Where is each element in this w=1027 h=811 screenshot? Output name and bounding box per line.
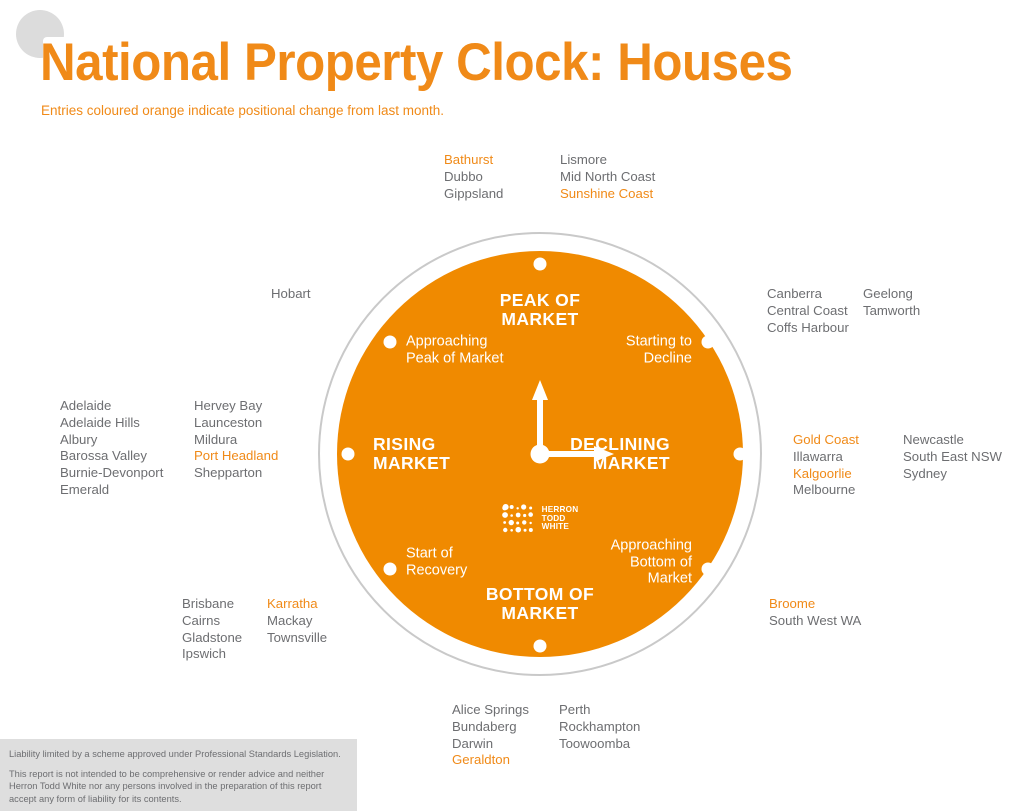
label-column: Gold CoastIllawarraKalgoorlieMelbourne — [793, 432, 903, 499]
city-label: Adelaide Hills — [60, 415, 194, 432]
page-title: National Property Clock: Houses — [40, 32, 793, 93]
city-label: Townsville — [267, 630, 327, 647]
label-column: Hervey BayLauncestonMilduraPort Headland… — [194, 398, 278, 499]
logo-dot-matrix-icon — [502, 504, 538, 534]
label-column: GeelongTamworth — [863, 286, 920, 336]
city-label: Cairns — [182, 613, 267, 630]
city-label: Rockhampton — [559, 719, 640, 736]
city-label: Dubbo — [444, 169, 560, 186]
city-label: Sydney — [903, 466, 1002, 483]
city-label: Mildura — [194, 432, 278, 449]
city-label: Hervey Bay — [194, 398, 278, 415]
disclaimer-line-2: This report is not intended to be compre… — [9, 768, 347, 806]
city-label: Albury — [60, 432, 194, 449]
city-label: Burnie-Devonport — [60, 465, 194, 482]
city-label: Bundaberg — [452, 719, 559, 736]
label-column: CanberraCentral CoastCoffs Harbour — [767, 286, 863, 336]
city-label: Lismore — [560, 152, 655, 169]
label-column: PerthRockhamptonToowoomba — [559, 702, 640, 769]
city-label: Gladstone — [182, 630, 267, 647]
city-label: Port Headland — [194, 448, 278, 465]
label-column: BathurstDubboGippsland — [444, 152, 560, 202]
page-subtitle: Entries coloured orange indicate positio… — [41, 103, 444, 118]
logo-line-3: WHITE — [542, 523, 579, 532]
city-label: Gold Coast — [793, 432, 903, 449]
city-label: Central Coast — [767, 303, 863, 320]
city-label: Gippsland — [444, 186, 560, 203]
city-label: Coffs Harbour — [767, 320, 863, 337]
label-column: AdelaideAdelaide HillsAlburyBarossa Vall… — [60, 398, 194, 499]
label-group-bottom-of-market: Alice SpringsBundabergDarwinGeraldton Pe… — [452, 702, 640, 769]
city-label: Hobart — [271, 286, 311, 303]
city-label: Mid North Coast — [560, 169, 655, 186]
city-label: Melbourne — [793, 482, 903, 499]
city-label: Karratha — [267, 596, 327, 613]
label-group-approaching-bottom-of-market: BroomeSouth West WA — [769, 596, 861, 630]
label-group-declining-market: Gold CoastIllawarraKalgoorlieMelbourne N… — [793, 432, 1002, 499]
city-label: Launceston — [194, 415, 278, 432]
city-label: South West WA — [769, 613, 861, 630]
city-label: Broome — [769, 596, 861, 613]
city-label: Sunshine Coast — [560, 186, 655, 203]
label-column: LismoreMid North CoastSunshine Coast — [560, 152, 655, 202]
city-label: Newcastle — [903, 432, 1002, 449]
city-label: Darwin — [452, 736, 559, 753]
label-group-start-of-recovery: BrisbaneCairnsGladstoneIpswich KarrathaM… — [182, 596, 327, 663]
label-column: BroomeSouth West WA — [769, 596, 861, 630]
logo-wordmark: HERRON TODD WHITE — [542, 506, 579, 532]
city-label: Emerald — [60, 482, 194, 499]
city-label: Kalgoorlie — [793, 466, 903, 483]
city-label: Geraldton — [452, 752, 559, 769]
label-column: BrisbaneCairnsGladstoneIpswich — [182, 596, 267, 663]
city-label: Tamworth — [863, 303, 920, 320]
city-label: Toowoomba — [559, 736, 640, 753]
label-group-peak-of-market: BathurstDubboGippsland LismoreMid North … — [444, 152, 655, 202]
city-label: Illawarra — [793, 449, 903, 466]
label-group-rising-market: AdelaideAdelaide HillsAlburyBarossa Vall… — [60, 398, 278, 499]
label-column: Alice SpringsBundabergDarwinGeraldton — [452, 702, 559, 769]
label-group-approaching-peak-of-market: Hobart — [271, 286, 311, 303]
city-label: Perth — [559, 702, 640, 719]
city-label: Canberra — [767, 286, 863, 303]
city-label: South East NSW — [903, 449, 1002, 466]
city-label: Barossa Valley — [60, 448, 194, 465]
city-label: Ipswich — [182, 646, 267, 663]
city-label: Bathurst — [444, 152, 560, 169]
city-label: Alice Springs — [452, 702, 559, 719]
city-label: Mackay — [267, 613, 327, 630]
label-group-starting-to-decline: CanberraCentral CoastCoffs Harbour Geelo… — [767, 286, 920, 336]
disclaimer-line-1: Liability limited by a scheme approved u… — [9, 748, 347, 761]
label-column: NewcastleSouth East NSWSydney — [903, 432, 1002, 499]
label-column: Hobart — [271, 286, 311, 303]
clock-hands-icon — [318, 232, 762, 676]
city-label: Shepparton — [194, 465, 278, 482]
city-label: Geelong — [863, 286, 920, 303]
label-column: KarrathaMackayTownsville — [267, 596, 327, 663]
property-clock-graphic: PEAK OF MARKET DECLINING MARKET BOTTOM O… — [318, 232, 762, 676]
herron-todd-white-logo: HERRON TODD WHITE — [502, 504, 579, 534]
property-clock-page: National Property Clock: Houses Entries … — [0, 0, 1027, 811]
city-label: Brisbane — [182, 596, 267, 613]
city-label: Adelaide — [60, 398, 194, 415]
disclaimer-box: Liability limited by a scheme approved u… — [0, 739, 357, 811]
